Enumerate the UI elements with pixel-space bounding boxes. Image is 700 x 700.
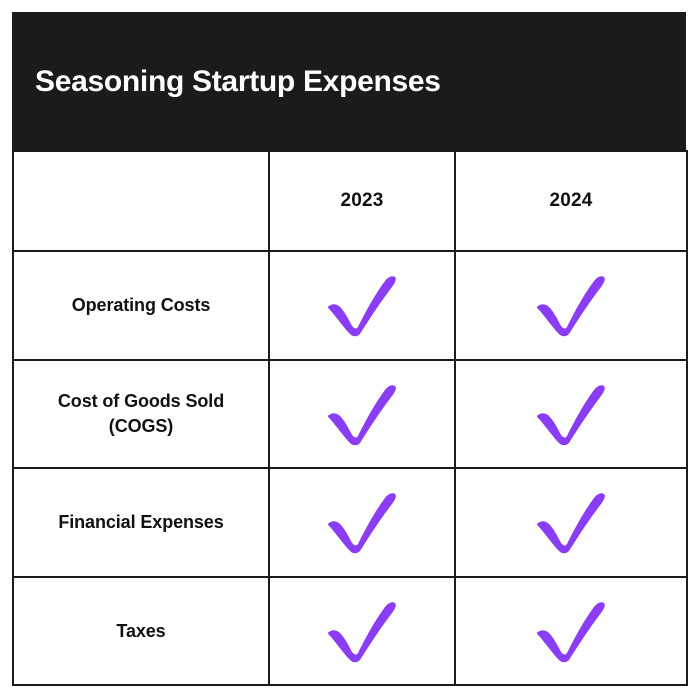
- cell-cost-of-goods-sold-2023: [269, 360, 455, 469]
- cell-financial-expenses-2024: [455, 468, 687, 577]
- check-icon: [456, 578, 686, 685]
- row-label-financial-expenses: Financial Expenses: [13, 468, 269, 577]
- check-icon: [456, 252, 686, 359]
- column-header-2023: 2023: [269, 151, 455, 251]
- cell-taxes-2023: [269, 577, 455, 686]
- table-row: Cost of Goods Sold (COGS): [13, 360, 687, 469]
- check-icon: [270, 252, 454, 359]
- row-label-line1: Cost of Goods Sold: [58, 391, 224, 411]
- expenses-table: 2023 2024 Operating Costs: [12, 150, 688, 686]
- row-label-line1: Financial Expenses: [58, 512, 223, 532]
- check-icon: [456, 361, 686, 468]
- cell-operating-costs-2023: [269, 251, 455, 360]
- table-row: Taxes: [13, 577, 687, 686]
- page-title: Seasoning Startup Expenses: [12, 65, 441, 98]
- table-row: Financial Expenses: [13, 468, 687, 577]
- row-label-operating-costs: Operating Costs: [13, 251, 269, 360]
- row-label-line1: Taxes: [116, 621, 165, 641]
- check-icon: [456, 469, 686, 576]
- check-icon: [270, 361, 454, 468]
- expense-table-page: Seasoning Startup Expenses 2023 2024 Ope…: [0, 0, 700, 700]
- table-header-row: 2023 2024: [13, 151, 687, 251]
- cell-taxes-2024: [455, 577, 687, 686]
- cell-financial-expenses-2023: [269, 468, 455, 577]
- row-label-line2: (COGS): [14, 414, 268, 438]
- row-label-taxes: Taxes: [13, 577, 269, 686]
- cell-operating-costs-2024: [455, 251, 687, 360]
- row-label-cost-of-goods-sold: Cost of Goods Sold (COGS): [13, 360, 269, 469]
- column-header-2024: 2024: [455, 151, 687, 251]
- check-icon: [270, 578, 454, 685]
- cell-cost-of-goods-sold-2024: [455, 360, 687, 469]
- title-banner: Seasoning Startup Expenses: [12, 12, 686, 150]
- table-corner-cell: [13, 151, 269, 251]
- check-icon: [270, 469, 454, 576]
- table-row: Operating Costs: [13, 251, 687, 360]
- row-label-line1: Operating Costs: [72, 295, 211, 315]
